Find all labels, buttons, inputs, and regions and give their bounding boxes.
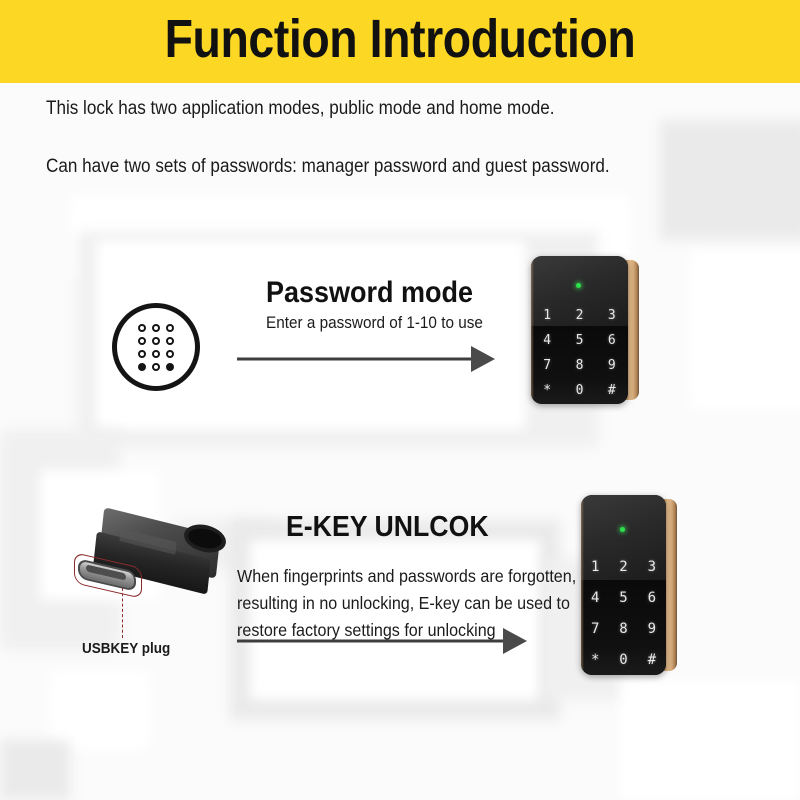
ekey-body-line-2: resulting in no unlocking, E-key can be … [237, 590, 570, 617]
status-led-icon [620, 527, 625, 532]
lock-key[interactable]: 4 [591, 591, 599, 605]
ekey-title: E-KEY UNLCOK [286, 511, 489, 544]
lock-front-panel: 1 2 3 4 5 6 7 8 9 * 0 # [581, 495, 666, 675]
section-ekey-unlock: USBKEY plug E-KEY UNLCOK When fingerprin… [0, 0, 800, 800]
lock-key[interactable]: * [591, 653, 599, 667]
lock-key[interactable]: 0 [619, 653, 627, 667]
lock-key[interactable]: 8 [619, 622, 627, 636]
lock-key[interactable]: 3 [648, 560, 656, 574]
lock-key[interactable]: # [648, 653, 656, 667]
smart-lock-device-ekey: 1 2 3 4 5 6 7 8 9 * 0 # [581, 495, 677, 675]
usbkey-callout-line [122, 588, 123, 638]
arrow-head [503, 628, 527, 654]
usbkey-dongle-icon [78, 521, 228, 611]
lock-key[interactable]: 1 [591, 560, 599, 574]
lock-key[interactable]: 9 [648, 622, 656, 636]
infographic-page: Function Introduction This lock has two … [0, 0, 800, 800]
lock-key[interactable]: 2 [619, 560, 627, 574]
ekey-body-line-1: When fingerprints and passwords are forg… [237, 563, 576, 590]
lock-key[interactable]: 6 [648, 591, 656, 605]
lock-keypad: 1 2 3 4 5 6 7 8 9 * 0 # [581, 560, 666, 667]
lock-key[interactable]: 5 [619, 591, 627, 605]
arrow-shaft [237, 640, 507, 643]
flow-arrow-ekey [237, 627, 527, 655]
usbkey-plug-label: USBKEY plug [82, 640, 170, 657]
lock-key[interactable]: 7 [591, 622, 599, 636]
